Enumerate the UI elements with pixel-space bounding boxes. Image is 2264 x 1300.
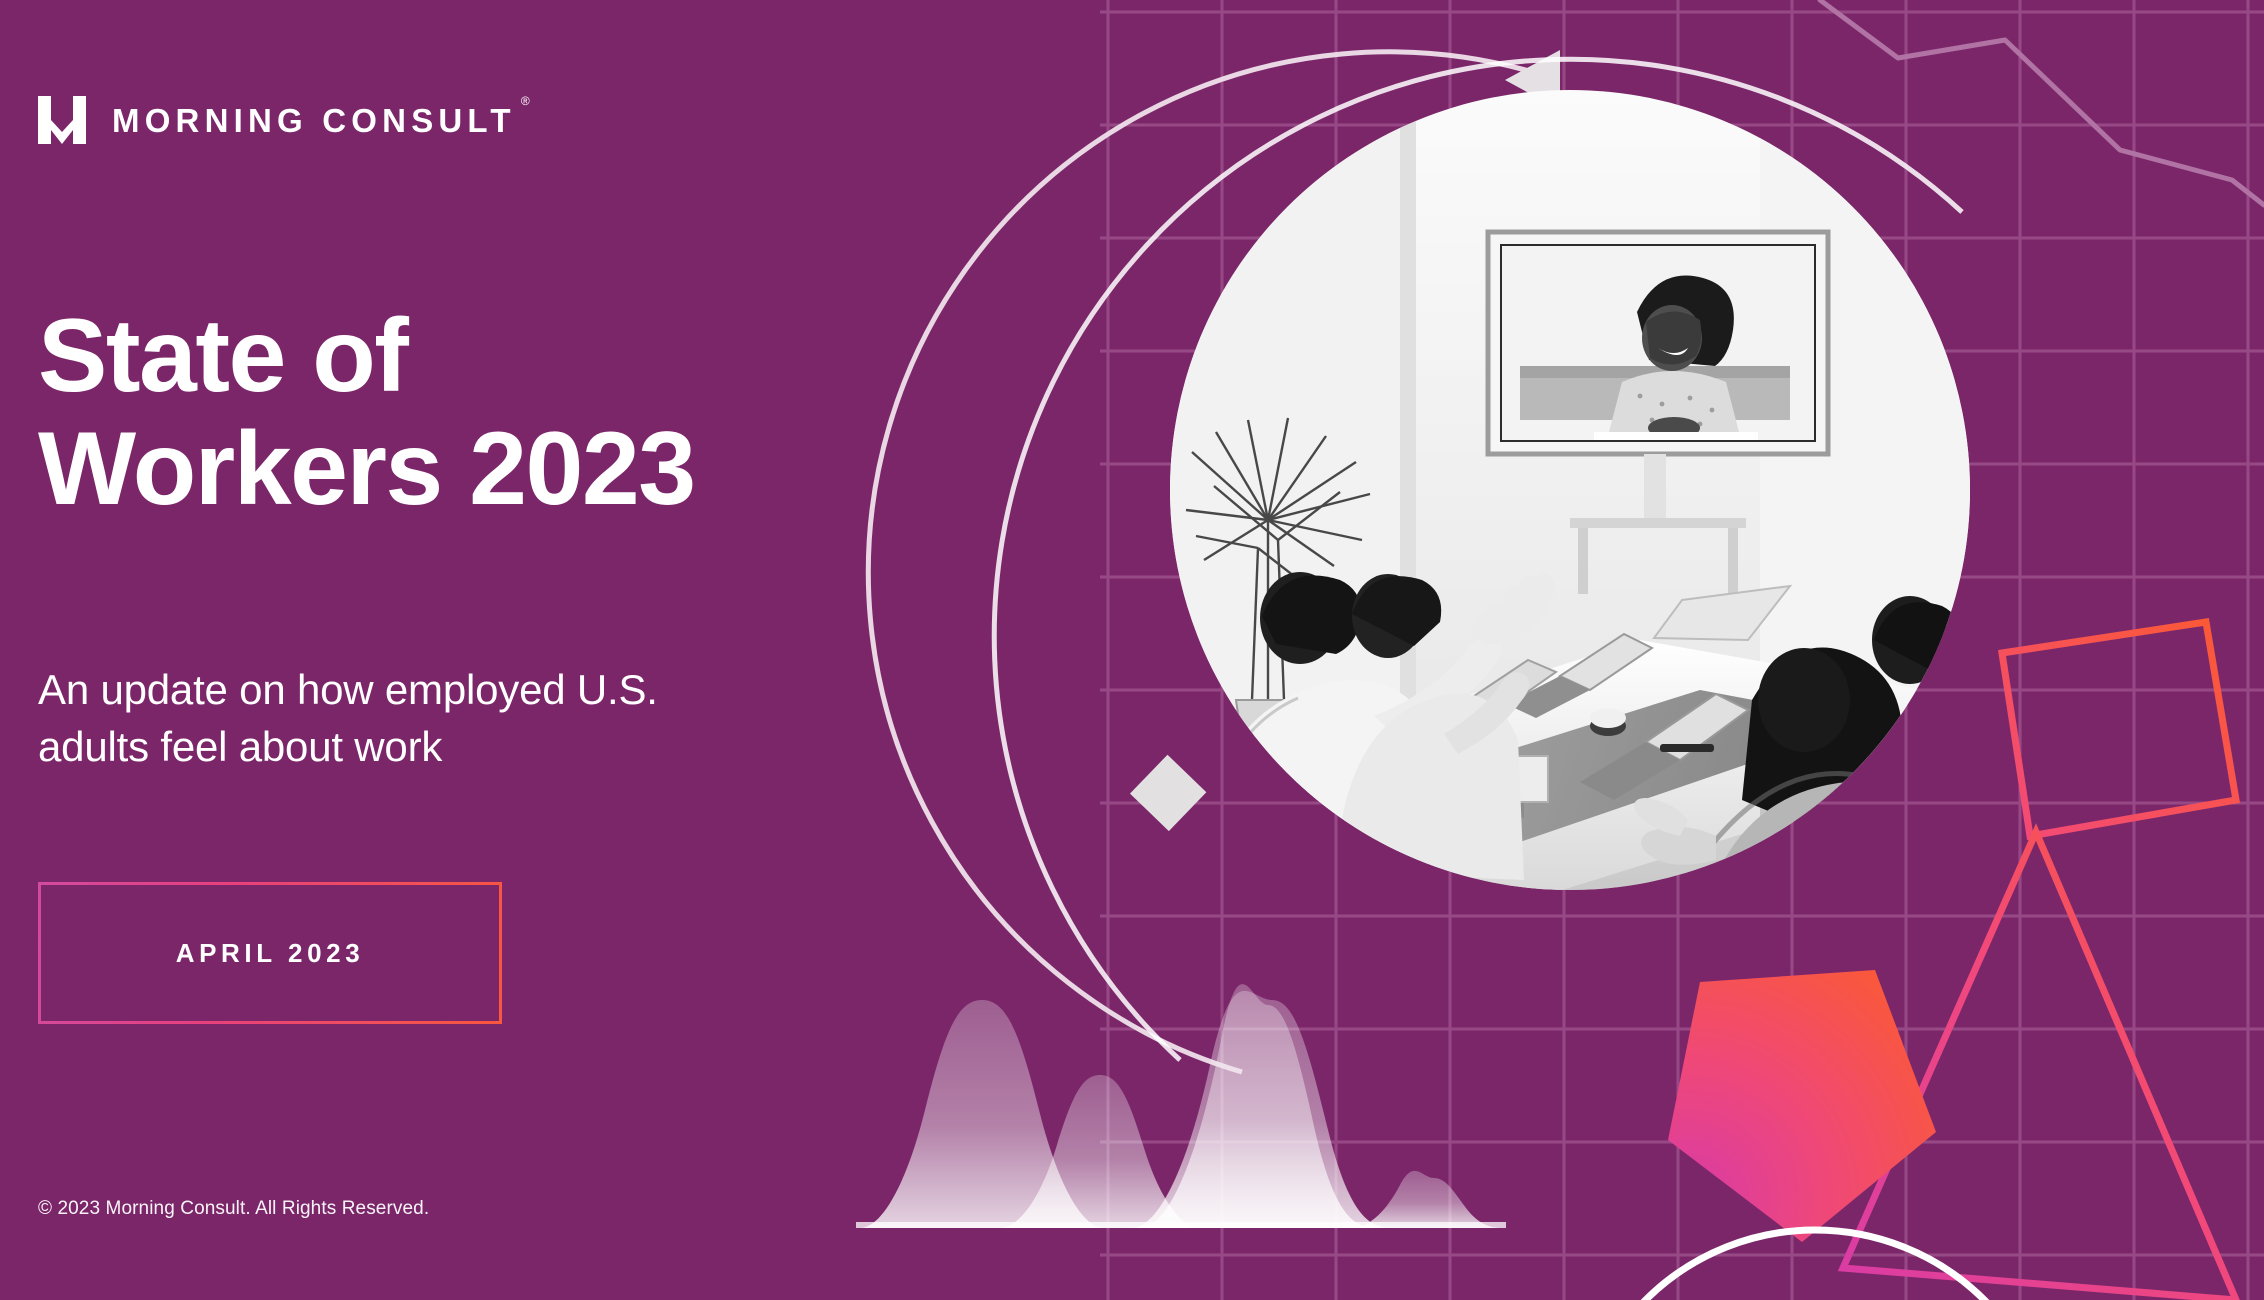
slide-canvas: MORNING CONSULT® State of Workers 2023 A… — [0, 0, 2264, 1300]
copyright-notice: © 2023 Morning Consult. All Rights Reser… — [38, 1198, 429, 1220]
page-title: State of Workers 2023 — [38, 300, 1058, 527]
morning-consult-chevron-mark — [38, 96, 86, 144]
page-subtitle-line-2: adults feel about work — [38, 719, 898, 776]
page-title-line-1: State of — [38, 300, 1058, 413]
brand-name-text: MORNING CONSULT — [112, 102, 516, 139]
person-left-a — [1200, 572, 1555, 900]
person-right-foreground — [1634, 647, 1954, 1010]
plant — [1186, 418, 1370, 700]
gradient-pentagon — [1668, 970, 1936, 1242]
grid-lines — [1100, 0, 2264, 1300]
brand-wordmark: MORNING CONSULT® — [112, 104, 516, 137]
registered-trademark-icon: ® — [521, 95, 530, 107]
circle-outline — [1575, 1230, 2055, 1300]
rotated-square-outline — [2002, 622, 2236, 836]
person-right-back — [1848, 596, 2062, 910]
diamond-marker — [1130, 755, 1206, 831]
hero-photo — [1170, 90, 2062, 1010]
brand-logo[interactable]: MORNING CONSULT® — [38, 96, 516, 144]
page-subtitle: An update on how employed U.S. adults fe… — [38, 662, 898, 775]
page-title-line-2: Workers 2023 — [38, 413, 1058, 526]
date-badge-label: APRIL 2023 — [176, 938, 365, 969]
laptops — [1418, 634, 1748, 800]
page-subtitle-line-1: An update on how employed U.S. — [38, 662, 898, 719]
secondary-arc — [994, 59, 1962, 1060]
video-screen — [1488, 232, 1828, 594]
descending-line-chart — [1820, 0, 2264, 205]
left-content-column: MORNING CONSULT® State of Workers 2023 A… — [0, 0, 1120, 1300]
kite-outline — [1843, 832, 2236, 1300]
person-left-b — [1336, 574, 1529, 880]
date-badge: APRIL 2023 — [38, 882, 502, 1024]
